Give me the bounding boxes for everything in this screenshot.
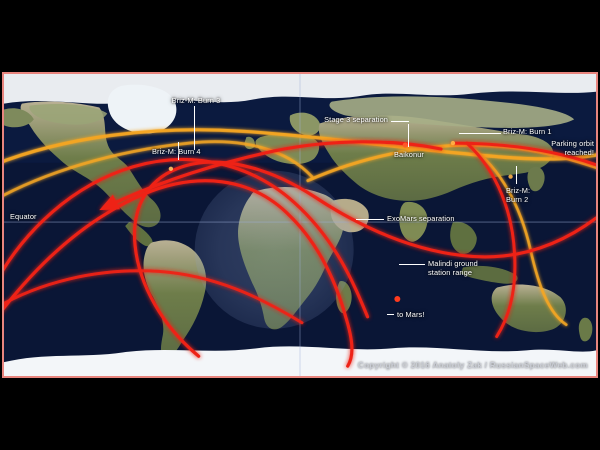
- leader-briz-m-burn-2: [516, 166, 517, 184]
- label-briz-m-burn-3: Briz-M: Burn 3: [150, 96, 242, 105]
- leader-baikonur: [408, 124, 409, 147]
- leader-stage-3-separation: [391, 121, 409, 122]
- leader-briz-m-burn-1: [459, 133, 501, 134]
- malindi-range-circle: [195, 171, 354, 329]
- label-equator: Equator: [10, 212, 58, 221]
- copyright-notice: Copyright © 2016 Anatoly Zak / RussianSp…: [358, 360, 588, 370]
- screenshot-root: Briz-M: Burn 3 Stage 3 separation Briz-M…: [0, 0, 600, 450]
- label-baikonur: Baikonur: [394, 150, 448, 159]
- label-briz-m-burn-1: Briz-M: Burn 1: [503, 127, 587, 136]
- world-map-figure: Briz-M: Burn 3 Stage 3 separation Briz-M…: [2, 72, 598, 378]
- node-briz-m-burn-2: [508, 174, 512, 178]
- label-briz-m-burn-2: Briz-M: Burn 2: [506, 186, 560, 204]
- leader-exomars-separation: [356, 219, 384, 220]
- leader-malindi-range: [399, 264, 425, 265]
- label-to-mars: to Mars!: [397, 310, 447, 319]
- leader-briz-m-burn-3: [194, 106, 195, 150]
- label-malindi-range: Malindi ground station range: [428, 259, 508, 277]
- label-briz-m-burn-4: Briz-M: Burn 4: [152, 147, 236, 156]
- node-briz-m-burn-1: [451, 141, 455, 145]
- node-to-mars-start: [394, 296, 400, 302]
- label-exomars-separation: ExoMars separation: [387, 214, 491, 223]
- leader-to-mars: [387, 314, 394, 315]
- label-stage-3-separation: Stage 3 separation: [282, 115, 388, 124]
- label-parking-orbit-reached: Parking orbit reached!: [502, 139, 594, 157]
- node-briz-m-burn-4: [169, 167, 173, 171]
